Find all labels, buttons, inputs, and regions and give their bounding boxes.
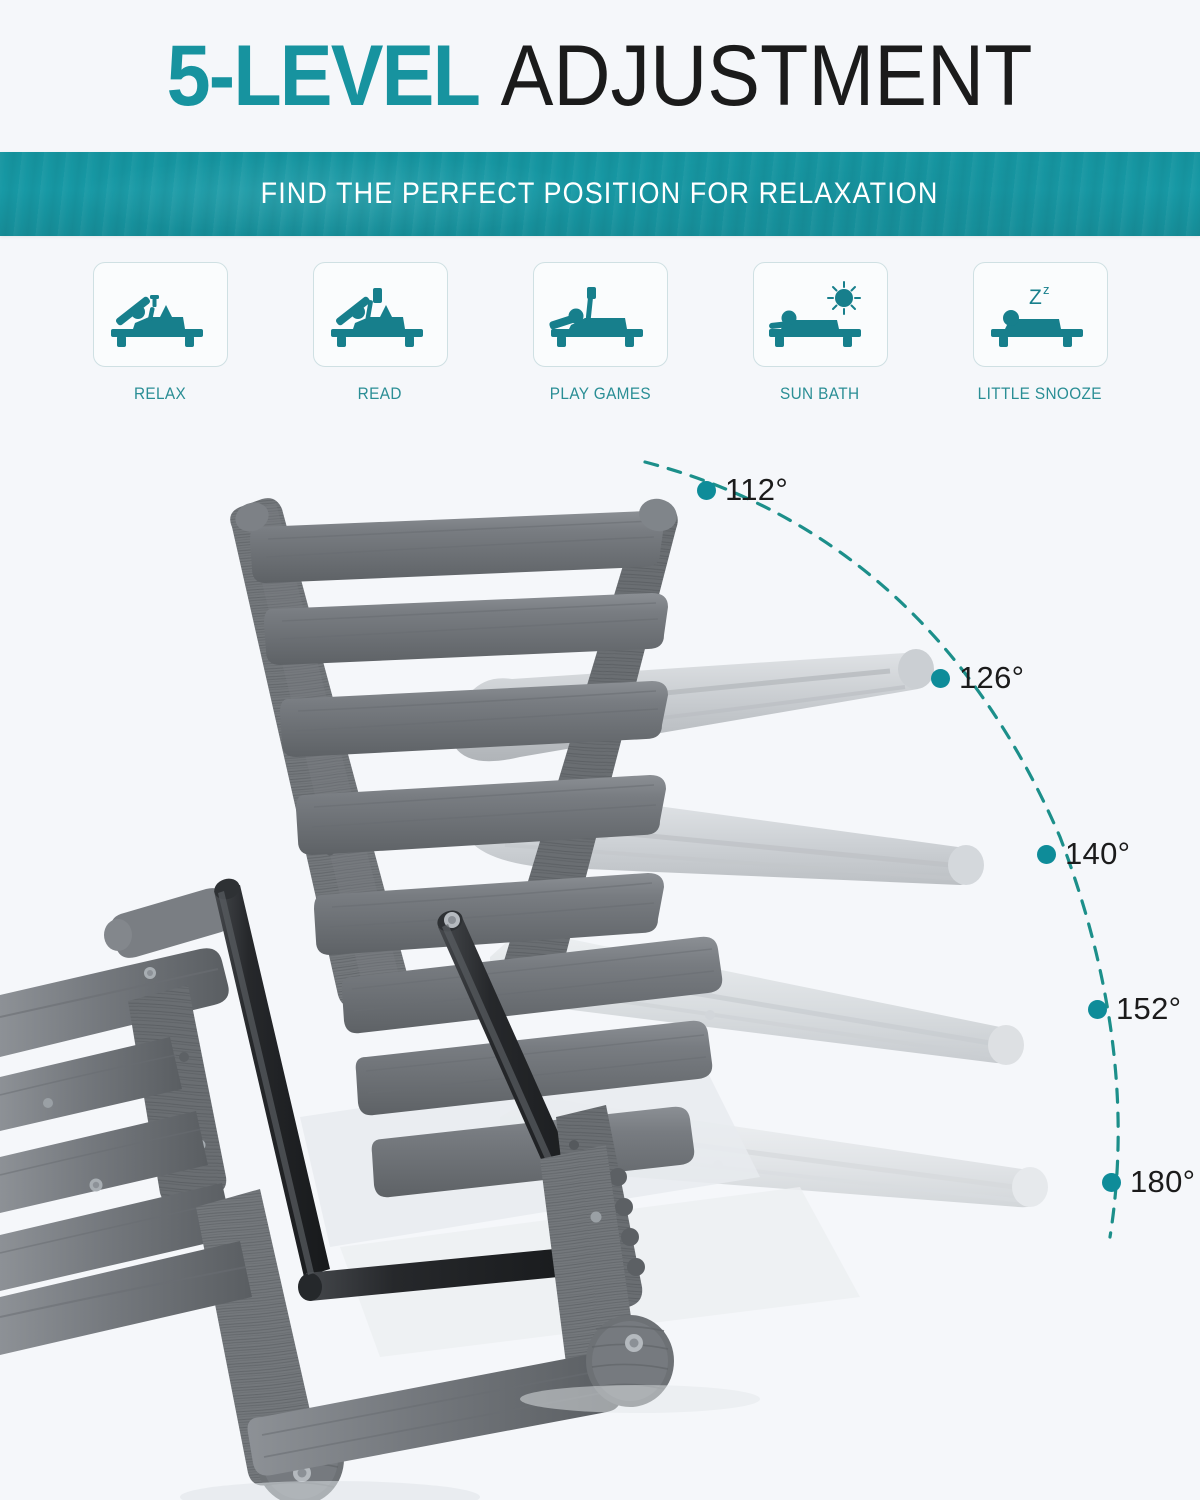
backrest-slats xyxy=(250,511,668,955)
person-reclining-with-drink-icon xyxy=(105,280,215,350)
angle-marker-126: 126° xyxy=(931,660,1024,696)
feature-label-relax: RELAX xyxy=(134,385,186,404)
feature-box-play-games xyxy=(533,262,668,367)
person-reclining-reading-book-icon xyxy=(325,280,435,350)
product-image-stage xyxy=(0,417,1200,1500)
page-title: 5-LEVEL ADJUSTMENT xyxy=(0,0,1200,152)
feature-item-read: READ xyxy=(313,262,448,404)
feature-box-read xyxy=(313,262,448,367)
angle-value-112: 112° xyxy=(725,472,788,508)
feature-item-relax: RELAX xyxy=(93,262,228,404)
angle-value-180: 180° xyxy=(1130,1164,1195,1200)
feature-label-sun-bath: SUN BATH xyxy=(780,385,859,404)
feature-box-little-snooze: Z z xyxy=(973,262,1108,367)
angle-marker-152: 152° xyxy=(1088,991,1181,1027)
angle-dot-112 xyxy=(697,481,716,500)
sun-icon xyxy=(828,282,860,314)
person-lying-with-phone-icon xyxy=(545,280,655,350)
feature-label-read: READ xyxy=(358,385,402,404)
angle-marker-180: 180° xyxy=(1102,1164,1195,1200)
feature-item-little-snooze: Z z LITTLE SNOOZE xyxy=(973,262,1108,404)
subtitle-text: FIND THE PERFECT POSITION FOR RELAXATION xyxy=(261,177,939,211)
page-title-accent: 5-LEVEL xyxy=(167,28,479,124)
person-sleeping-zzz-icon: Z z xyxy=(985,280,1095,350)
feature-label-little-snooze: LITTLE SNOOZE xyxy=(978,385,1102,404)
angle-dot-152 xyxy=(1088,1000,1107,1019)
angle-value-152: 152° xyxy=(1116,991,1181,1027)
seat-slats xyxy=(342,937,723,1198)
chaise-lounge-illustration xyxy=(0,417,1200,1500)
infographic-page: 5-LEVEL ADJUSTMENT FIND THE PERFECT POSI… xyxy=(0,0,1200,1500)
subtitle-banner: FIND THE PERFECT POSITION FOR RELAXATION xyxy=(0,152,1200,236)
feature-box-sun-bath xyxy=(753,262,888,367)
feature-icon-row: RELAX xyxy=(0,262,1200,417)
angle-marker-140: 140° xyxy=(1037,836,1130,872)
feature-box-relax xyxy=(93,262,228,367)
person-lying-flat-with-sun-icon xyxy=(765,280,875,350)
angle-value-140: 140° xyxy=(1065,836,1130,872)
feature-item-play-games: PLAY GAMES xyxy=(533,262,668,404)
page-title-rest: ADJUSTMENT xyxy=(501,28,1033,124)
snooze-z-large: Z xyxy=(1029,286,1042,309)
angle-dot-140 xyxy=(1037,845,1056,864)
feature-item-sun-bath: SUN BATH xyxy=(753,262,888,404)
feature-label-play-games: PLAY GAMES xyxy=(549,385,650,404)
snooze-z-small: z xyxy=(1043,282,1050,297)
angle-value-126: 126° xyxy=(959,660,1024,696)
angle-marker-112: 112° xyxy=(697,472,788,508)
angle-dot-180 xyxy=(1102,1173,1121,1192)
angle-dot-126 xyxy=(931,669,950,688)
